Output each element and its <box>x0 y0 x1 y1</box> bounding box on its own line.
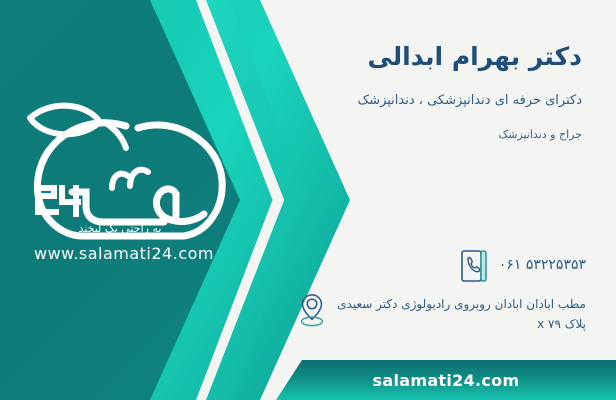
footer-website: salamati24.com <box>276 360 616 400</box>
business-card: به راحتی یک لبخند www.salamati24.com دکت… <box>0 0 616 400</box>
phone-contact-row[interactable]: ۵۳۲۲۵۳۵۳ ۰۶۱ <box>459 248 586 284</box>
doctor-degree: دکترای حرفه ای دندانپزشکی ، دندانپزشک <box>358 93 582 108</box>
logo-website-url: www.salamati24.com <box>8 244 240 263</box>
phone-number: ۵۳۲۲۵۳۵۳ ۰۶۱ <box>499 248 586 277</box>
doctor-name: دکتر بهرام ابدالی <box>367 42 582 71</box>
address-line-2: پلاک ۷۹ x <box>337 315 586 335</box>
doctor-specialty: جراح و دندانپزشک <box>498 128 582 141</box>
address-line-1: مطب ابادان ابادان روبروی رادیولوژی دکتر … <box>337 297 586 311</box>
phone-book-icon <box>459 248 489 284</box>
brand-logo: به راحتی یک لبخند www.salamati24.com <box>8 96 248 286</box>
map-pin-icon <box>297 292 327 328</box>
footer-bar: salamati24.com <box>276 360 616 400</box>
address-contact-row[interactable]: مطب ابادان ابادان روبروی رادیولوژی دکتر … <box>297 292 586 335</box>
logo-tagline: به راحتی یک لبخند <box>8 222 232 235</box>
address-text-block: مطب ابادان ابادان روبروی رادیولوژی دکتر … <box>337 292 586 335</box>
